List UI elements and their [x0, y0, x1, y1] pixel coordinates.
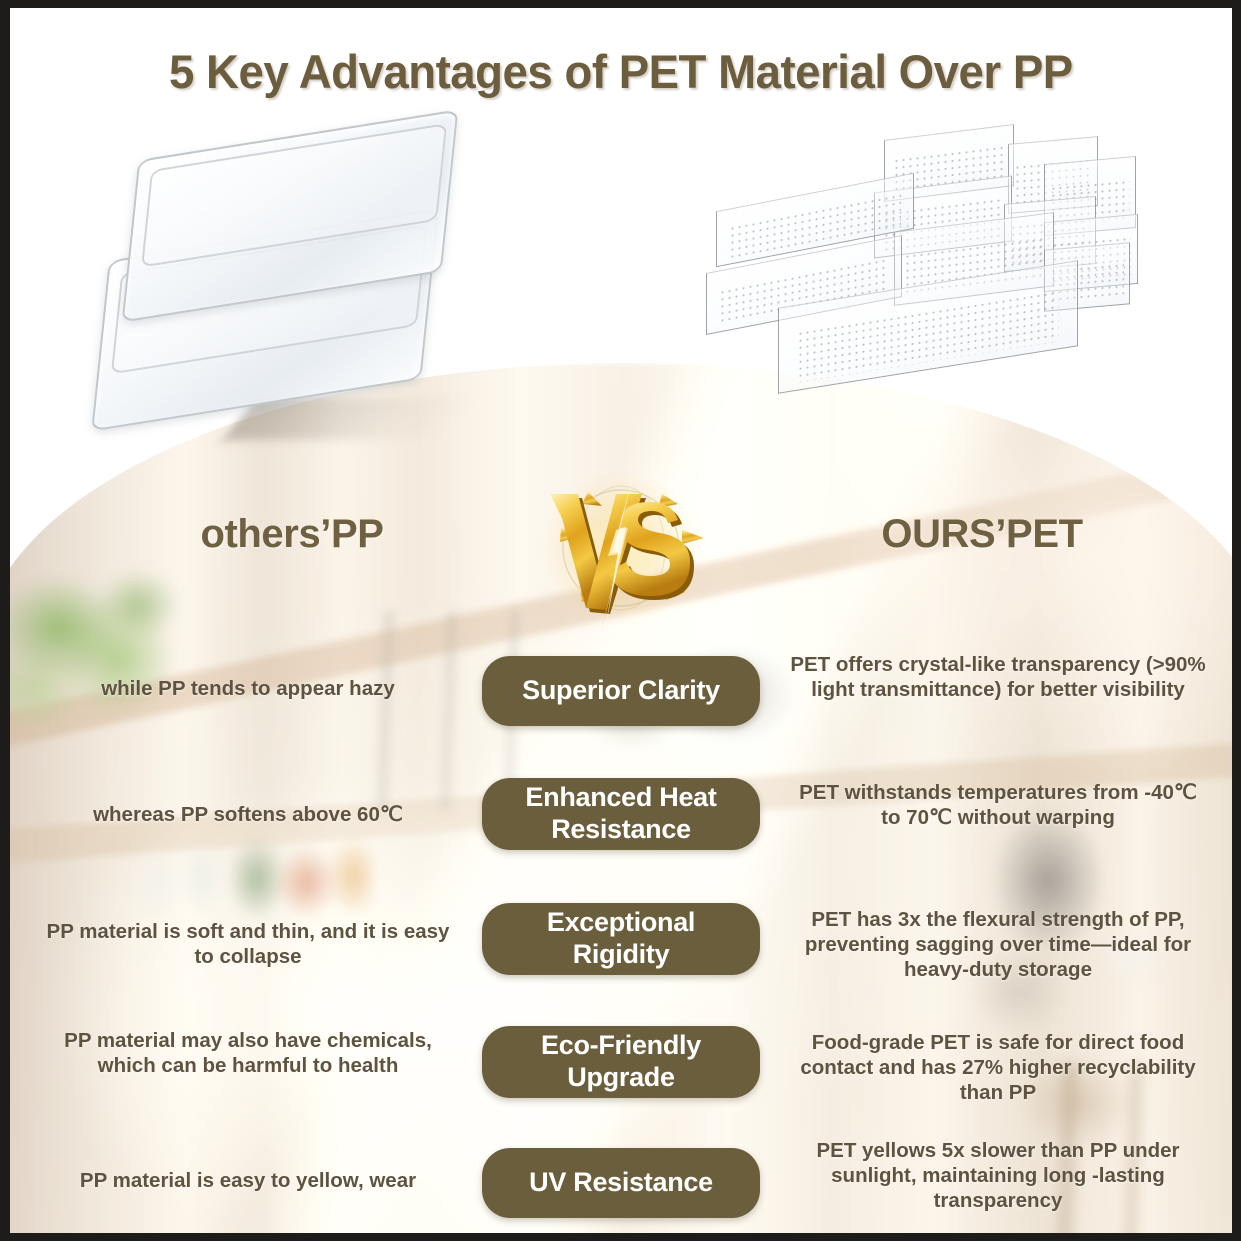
row-right-text: PET has 3x the flexural strength of PP, …	[788, 907, 1208, 982]
row-right-text: PET withstands temperatures from -40℃ to…	[788, 780, 1208, 830]
row-right-text: PET yellows 5x slower than PP under sunl…	[788, 1138, 1208, 1213]
feature-badge[interactable]: Enhanced Heat Resistance	[482, 778, 760, 850]
row-left-text: PP material is easy to yellow, wear	[38, 1168, 458, 1193]
feature-badge[interactable]: Eco-Friendly Upgrade	[482, 1026, 760, 1098]
infographic-poster: 5 Key Advantages of PET Material Over PP	[10, 8, 1232, 1233]
row-left-text: whereas PP softens above 60℃	[38, 802, 458, 827]
feature-badge[interactable]: Exceptional Rigidity	[482, 903, 760, 975]
row-right-text: PET offers crystal-like transparency (>9…	[788, 652, 1208, 702]
feature-badge[interactable]: UV Resistance	[482, 1148, 760, 1218]
vs-badge	[516, 458, 726, 638]
row-left-text: while PP tends to appear hazy	[38, 676, 458, 701]
row-left-text: PP material may also have chemicals, whi…	[38, 1028, 458, 1078]
feature-badge[interactable]: Superior Clarity	[482, 656, 760, 726]
row-right-text: Food-grade PET is safe for direct food c…	[788, 1030, 1208, 1105]
page-title-text: 5 Key Advantages of PET Material Over PP	[169, 44, 1073, 99]
page-title: 5 Key Advantages of PET Material Over PP	[10, 44, 1232, 99]
row-left-text: PP material is soft and thin, and it is …	[38, 919, 458, 969]
